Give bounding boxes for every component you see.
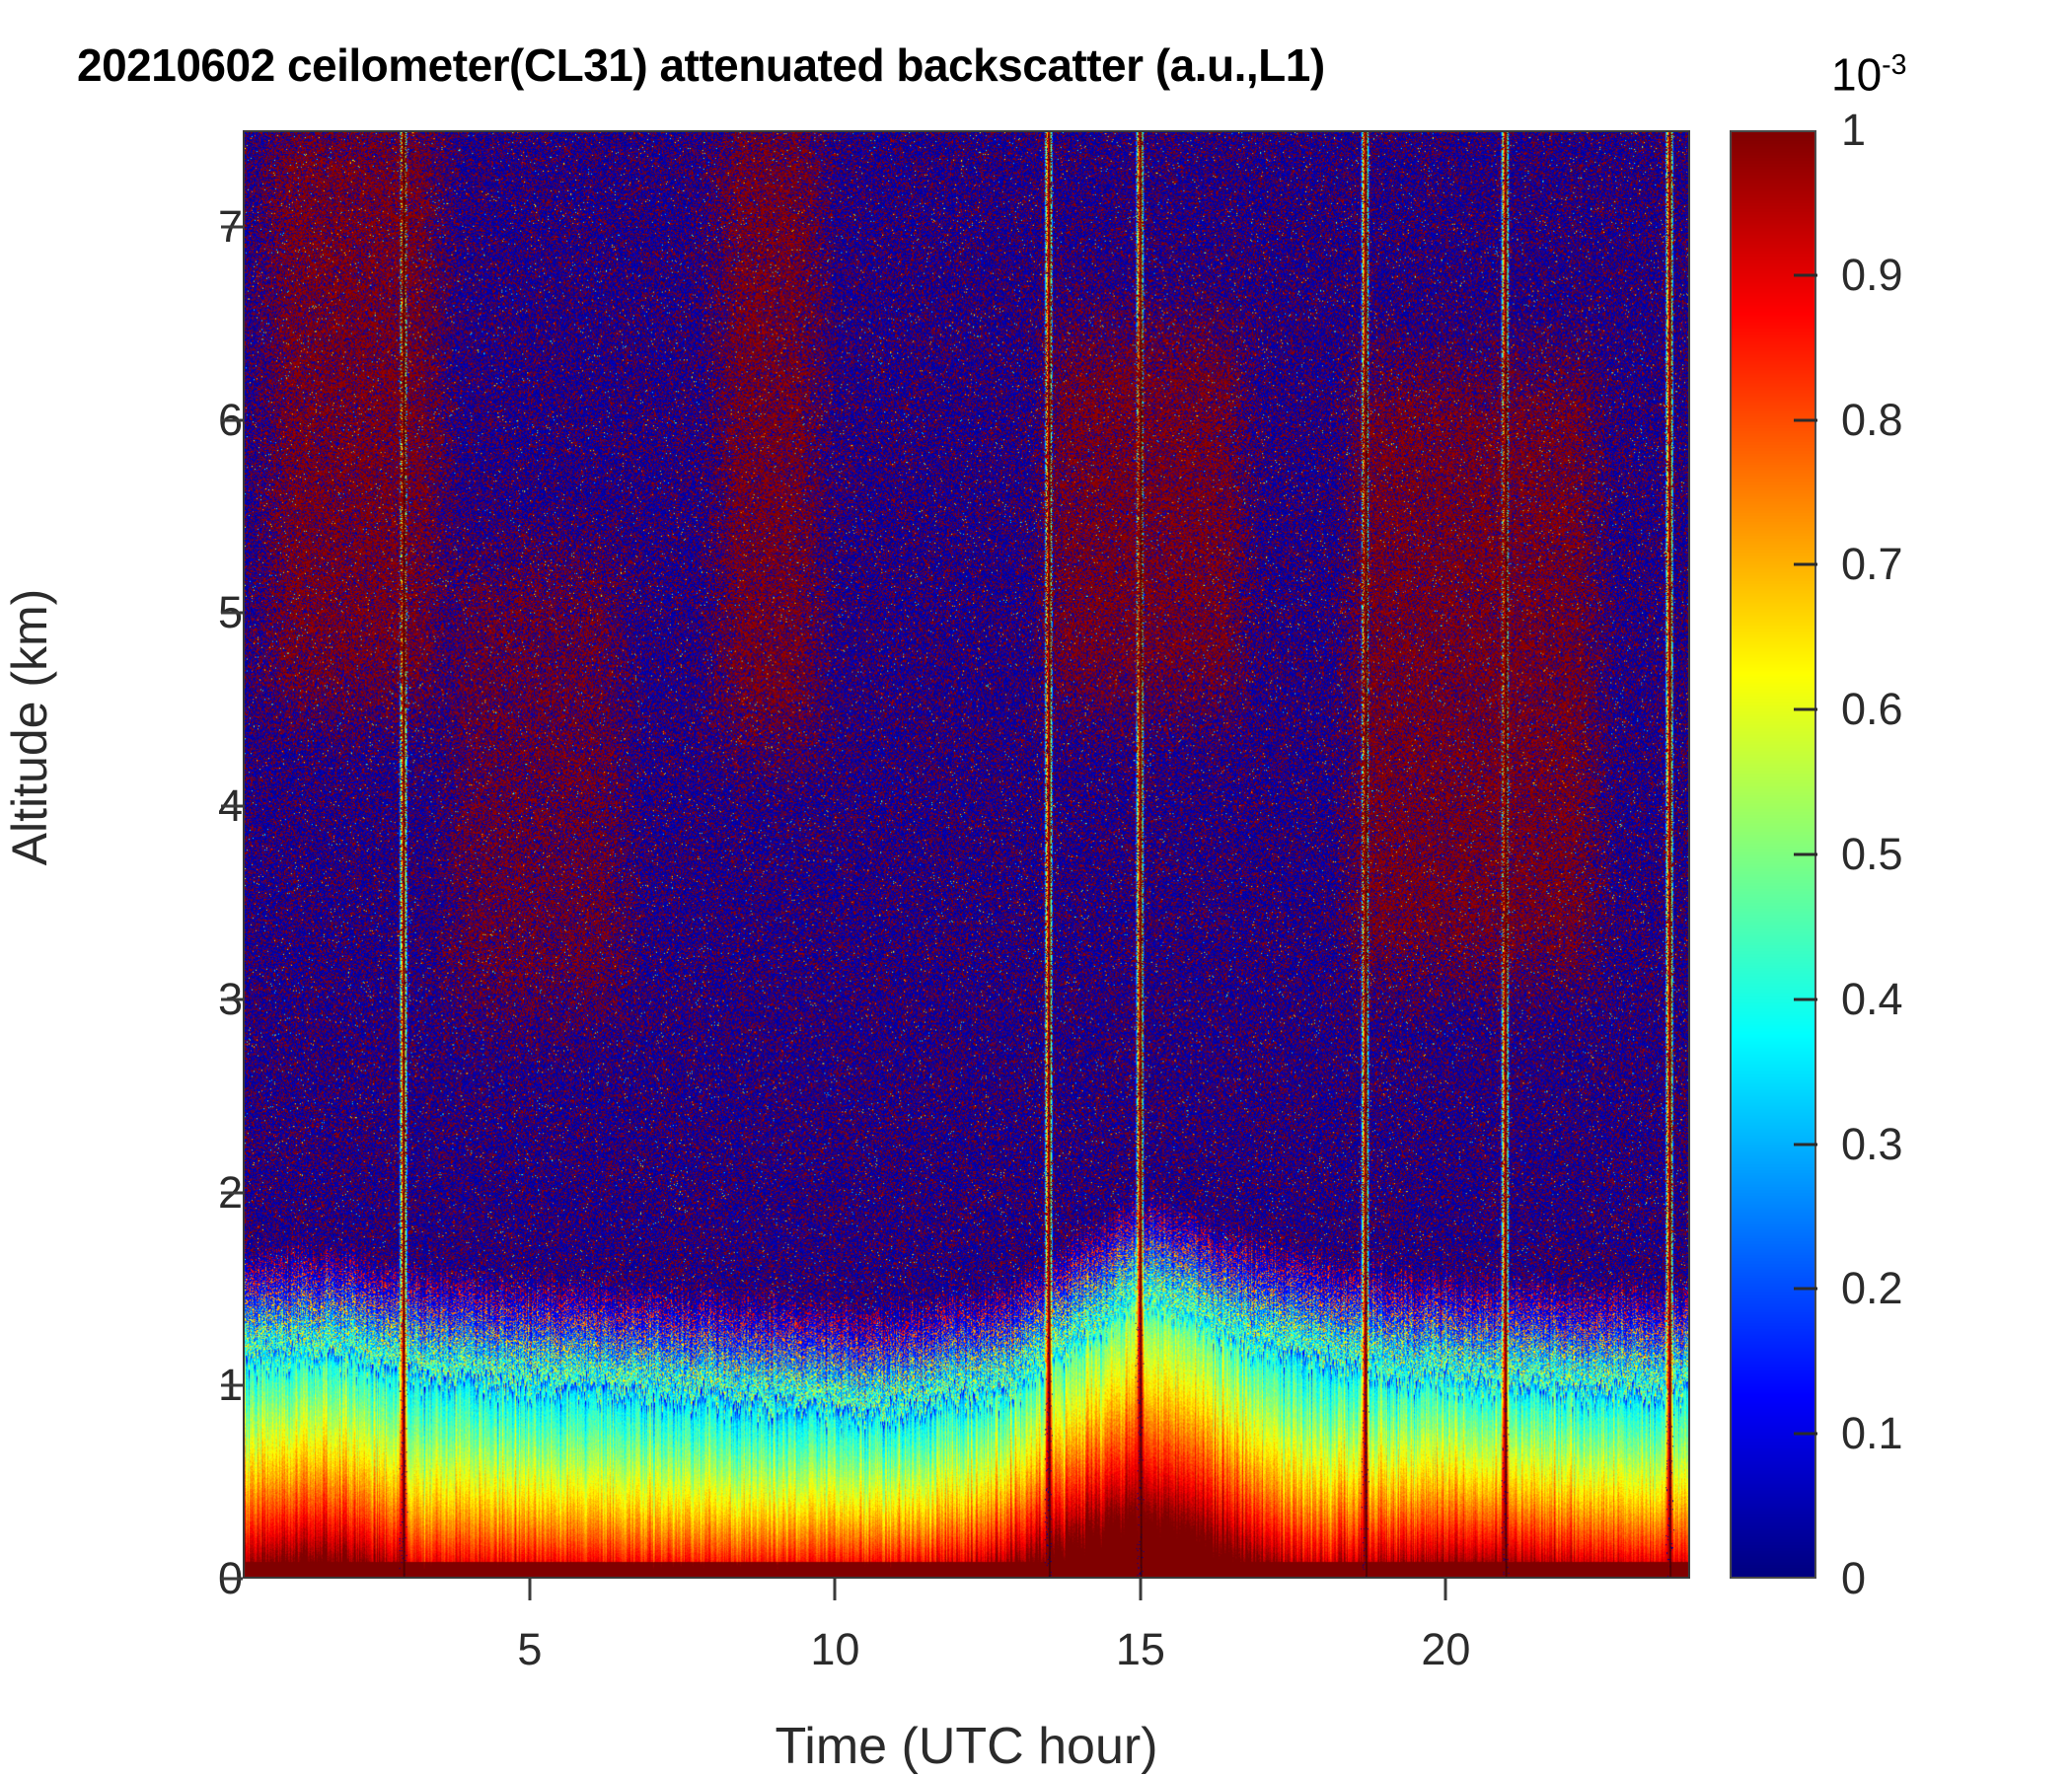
colorbar-tick-mark xyxy=(1794,998,1817,1000)
colorbar-tick-label: 0.5 xyxy=(1841,829,1999,880)
x-axis-label: Time (UTC hour) xyxy=(243,1717,1690,1776)
y-tick-mark xyxy=(221,1191,243,1194)
colorbar-tick-mark xyxy=(1794,1143,1817,1146)
colorbar-tick-mark xyxy=(1794,1288,1817,1291)
colorbar-tick-label: 0.9 xyxy=(1841,250,1999,301)
colorbar-tick-label: 0.1 xyxy=(1841,1408,1999,1459)
y-tick-mark xyxy=(221,998,243,1000)
colorbar-exponent-power: -3 xyxy=(1882,49,1906,81)
colorbar-tick-mark xyxy=(1794,563,1817,566)
y-tick-mark xyxy=(221,1578,243,1581)
x-tick-mark xyxy=(1139,1579,1142,1600)
y-tick-mark xyxy=(221,418,243,421)
colorbar-tick-label: 0.8 xyxy=(1841,395,1999,446)
y-tick-mark xyxy=(221,225,243,228)
x-tick-mark xyxy=(528,1579,531,1600)
y-tick-mark xyxy=(221,1384,243,1387)
x-tick-mark xyxy=(1444,1579,1447,1600)
y-tick-mark xyxy=(221,612,243,615)
y-tick-mark xyxy=(221,805,243,808)
figure-canvas: 20210602 ceilometer(CL31) attenuated bac… xyxy=(0,0,2072,1776)
colorbar-tick-label: 0.2 xyxy=(1841,1263,1999,1314)
x-tick-label: 20 xyxy=(1371,1624,1519,1675)
x-tick-label: 10 xyxy=(761,1624,909,1675)
colorbar-tick-label: 0.6 xyxy=(1841,684,1999,735)
colorbar-tick-label: 0.7 xyxy=(1841,539,1999,590)
x-tick-label: 5 xyxy=(456,1624,604,1675)
backscatter-heatmap-image xyxy=(245,132,1688,1577)
heatmap-plot-area[interactable] xyxy=(243,130,1690,1579)
colorbar-tick-label: 0.4 xyxy=(1841,974,1999,1025)
colorbar-tick-label: 0.3 xyxy=(1841,1119,1999,1170)
colorbar-tick-mark xyxy=(1794,708,1817,711)
colorbar-tick-label: 1 xyxy=(1841,105,1999,156)
colorbar-exponent-multiplier: 10-3 xyxy=(1831,36,1907,104)
colorbar-tick-label: 0 xyxy=(1841,1553,1999,1604)
colorbar-tick-mark xyxy=(1794,273,1817,276)
x-tick-label: 15 xyxy=(1067,1624,1215,1675)
colorbar-tick-mark xyxy=(1794,418,1817,421)
colorbar-tick-mark xyxy=(1794,1433,1817,1436)
x-axis: Time (UTC hour) 5101520 xyxy=(243,1579,1690,1776)
x-tick-mark xyxy=(834,1579,837,1600)
page-title: 20210602 ceilometer(CL31) attenuated bac… xyxy=(77,36,1656,95)
colorbar-tick-mark xyxy=(1794,853,1817,856)
y-axis: 76543210 xyxy=(95,130,243,1579)
y-axis-label: Altitude (km) xyxy=(1,283,58,1171)
colorbar-exponent-base: 10 xyxy=(1831,48,1882,100)
